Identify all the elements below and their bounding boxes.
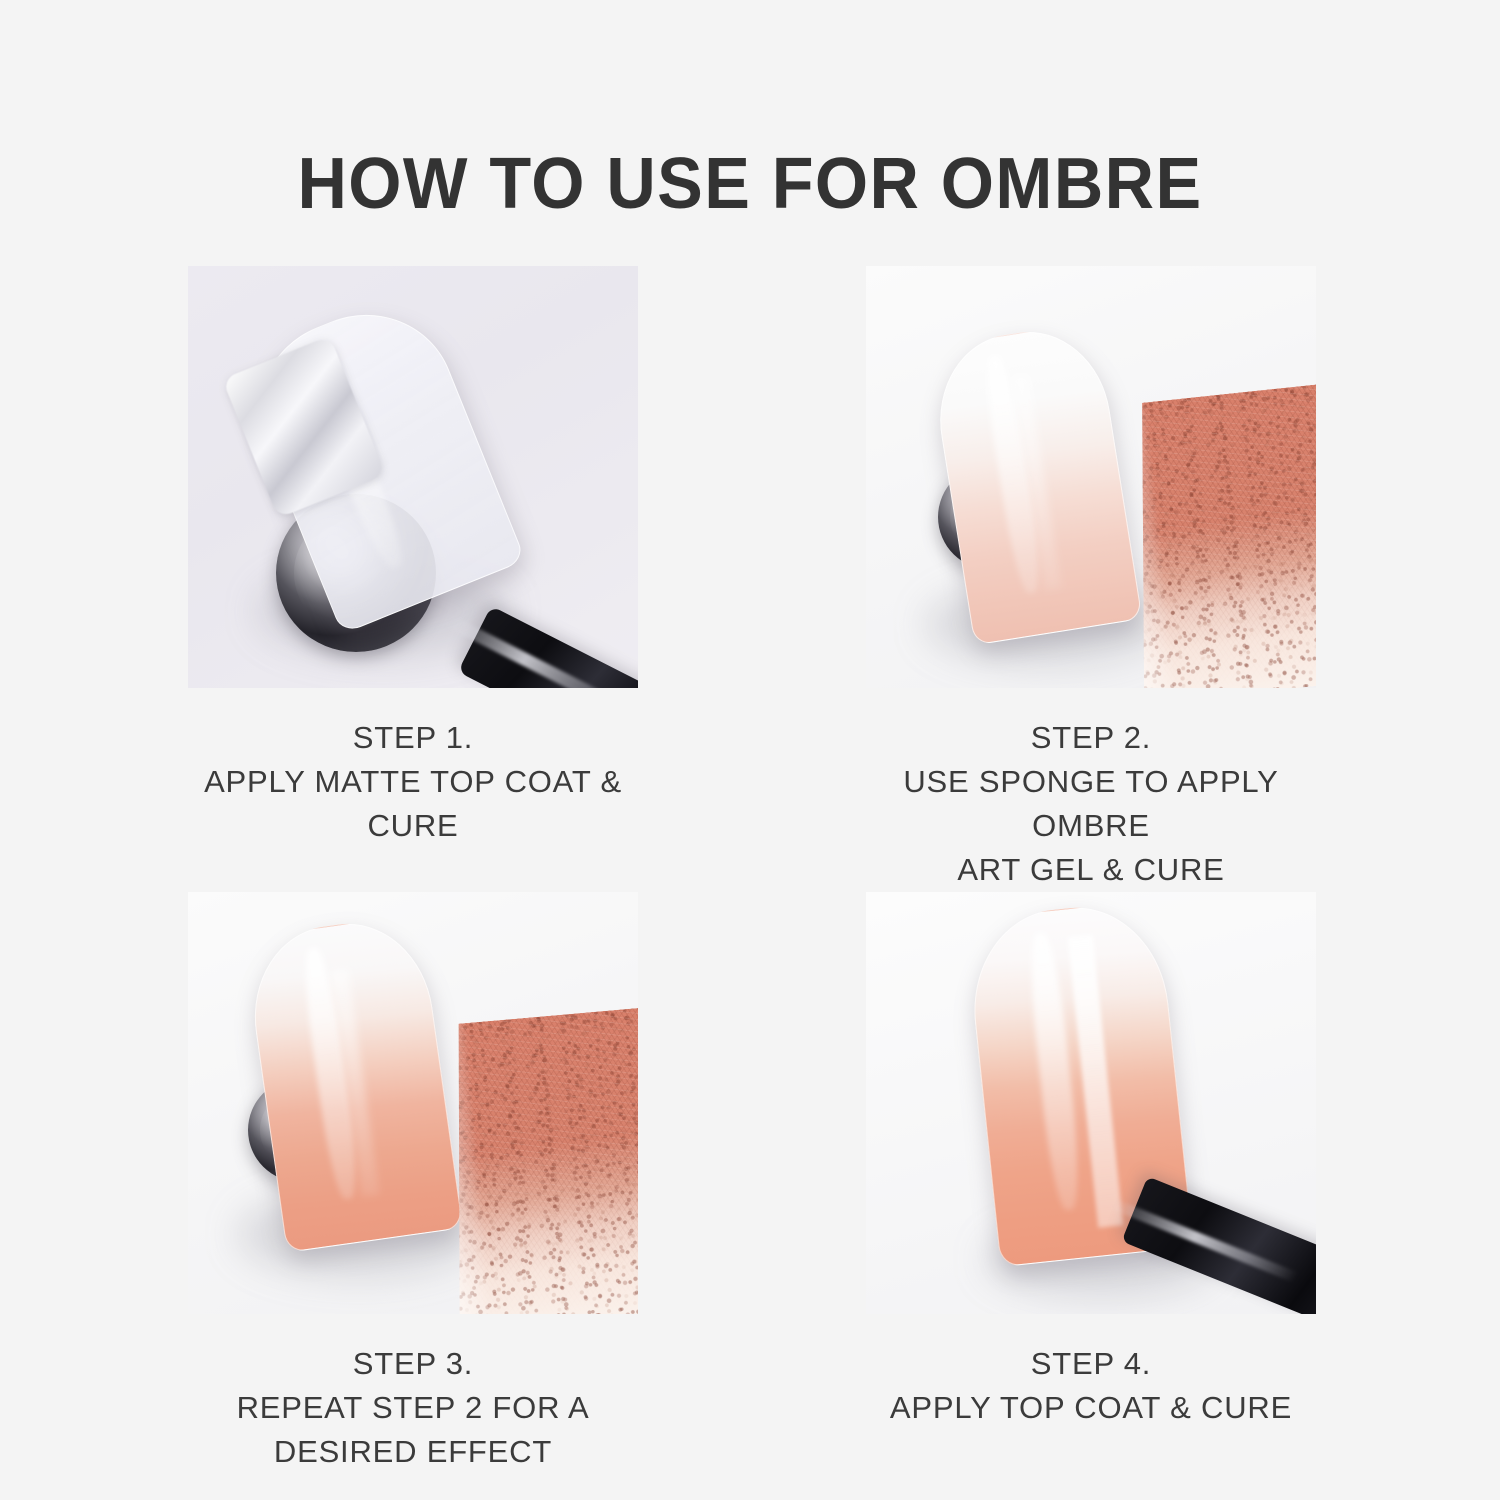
step-card-1: STEP 1. APPLY MATTE TOP COAT & CURE (188, 266, 638, 892)
step-2-number: STEP 2. (866, 716, 1316, 760)
step-3-caption: STEP 3. REPEAT STEP 2 FOR A DESIRED EFFE… (188, 1342, 638, 1474)
step-2-line-1: USE SPONGE TO APPLY OMBRE (866, 760, 1316, 848)
step-3-line-1: REPEAT STEP 2 FOR A DESIRED EFFECT (188, 1386, 638, 1474)
step-1-photo (188, 266, 638, 688)
step-1-number: STEP 1. (188, 716, 638, 760)
step-2-caption: STEP 2. USE SPONGE TO APPLY OMBRE ART GE… (866, 716, 1316, 892)
step-2-photo (866, 266, 1316, 688)
coral-sponge-wedge-icon (433, 1007, 638, 1314)
step-4-caption: STEP 4. APPLY TOP COAT & CURE (866, 1342, 1316, 1430)
step-2-line-2: ART GEL & CURE (866, 848, 1316, 892)
step-4-line-1: APPLY TOP COAT & CURE (866, 1386, 1316, 1430)
step-card-4: STEP 4. APPLY TOP COAT & CURE (866, 892, 1316, 1474)
step-4-photo (866, 892, 1316, 1314)
page-title: HOW TO USE FOR OMBRE (38, 148, 1463, 220)
step-card-2: STEP 2. USE SPONGE TO APPLY OMBRE ART GE… (866, 266, 1316, 892)
step-3-photo (188, 892, 638, 1314)
infographic-page: HOW TO USE FOR OMBRE STEP 1. APPLY MATTE… (0, 0, 1500, 1500)
steps-grid: STEP 1. APPLY MATTE TOP COAT & CURE (188, 266, 1318, 1474)
step-1-line-1: APPLY MATTE TOP COAT & CURE (188, 760, 638, 848)
step-card-3: STEP 3. REPEAT STEP 2 FOR A DESIRED EFFE… (188, 892, 638, 1474)
step-4-number: STEP 4. (866, 1342, 1316, 1386)
step-3-number: STEP 3. (188, 1342, 638, 1386)
step-1-caption: STEP 1. APPLY MATTE TOP COAT & CURE (188, 716, 638, 848)
